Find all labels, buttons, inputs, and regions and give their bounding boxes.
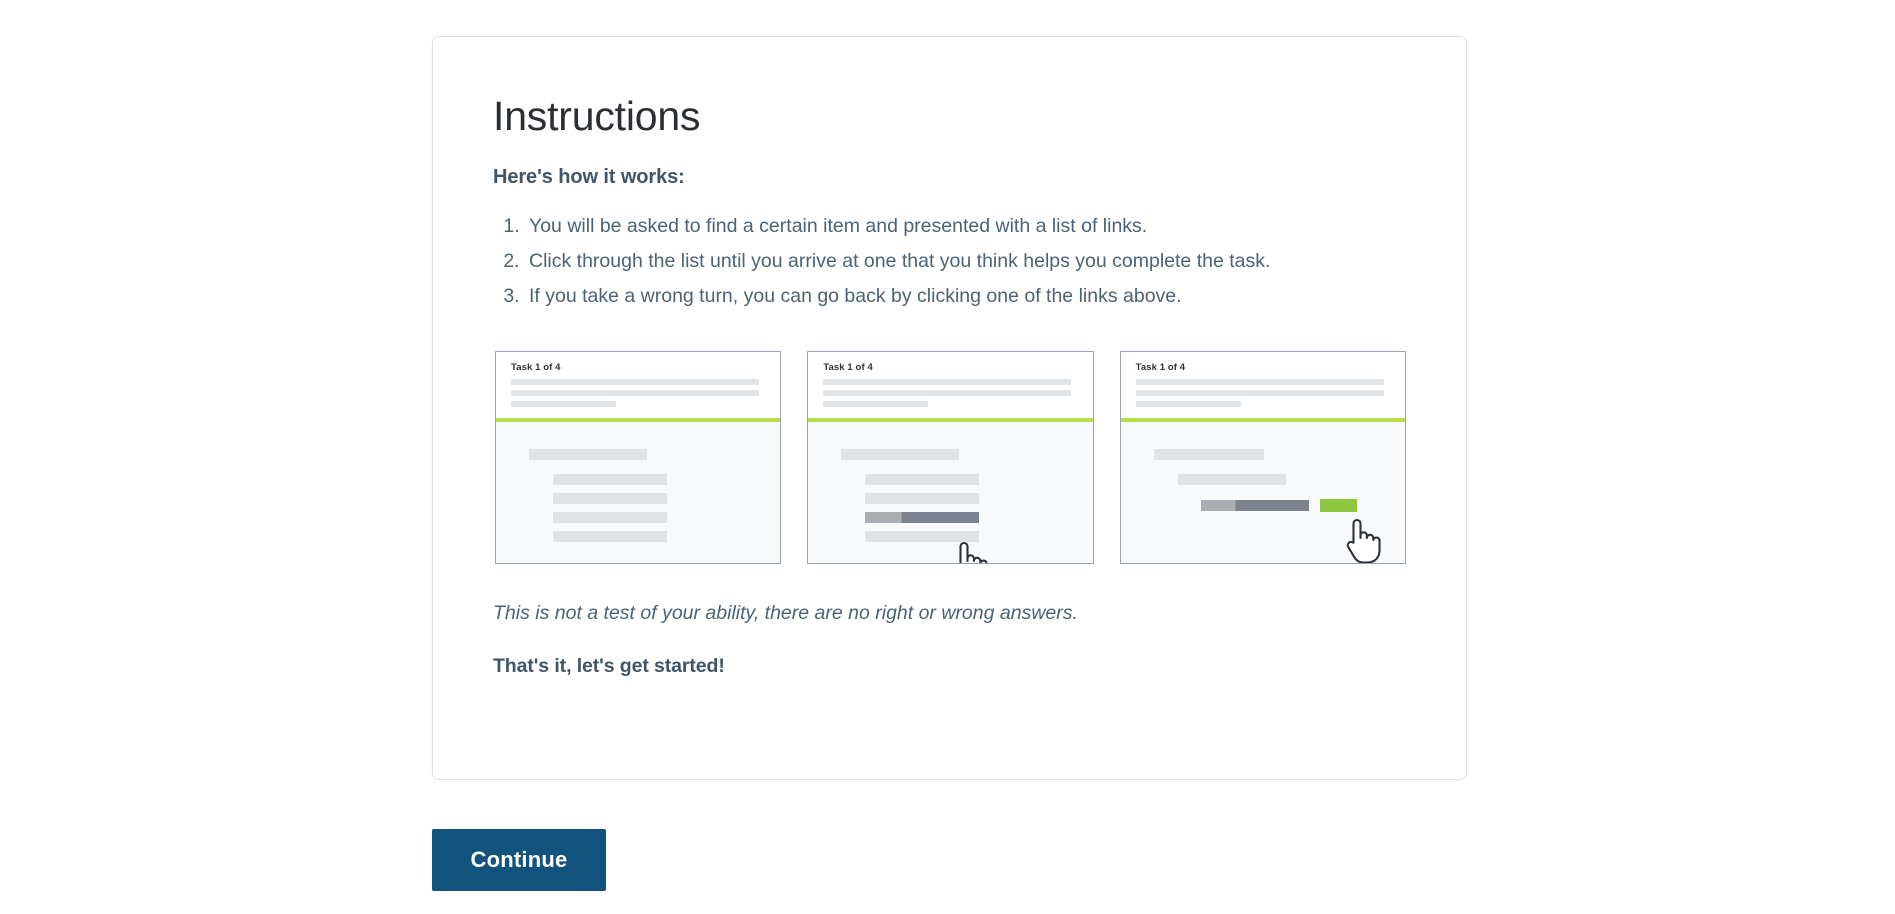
pointing-hand-cursor-icon [1340, 516, 1382, 564]
placeholder-result-line [1121, 499, 1405, 512]
thumbnail-3-header: Task 1 of 4 [1121, 352, 1405, 418]
thumbnail-2-task-label: Task 1 of 4 [823, 362, 1080, 373]
thumbnail-step-3: Task 1 of 4 [1120, 351, 1406, 564]
continue-button[interactable]: Continue [432, 829, 606, 891]
step-item-3: If you take a wrong turn, you can go bac… [525, 279, 1405, 314]
thumbnail-2-body [808, 422, 1092, 563]
instructions-panel: Instructions Here's how it works: You wi… [432, 36, 1467, 780]
step-item-2: Click through the list until you arrive … [525, 244, 1405, 279]
disclaimer-text: This is not a test of your ability, ther… [493, 602, 1406, 625]
steps-list: You will be asked to find a certain item… [493, 209, 1406, 314]
placeholder-line [1136, 401, 1241, 407]
placeholder-line [511, 401, 616, 407]
thumbnail-1-header: Task 1 of 4 [496, 352, 780, 418]
placeholder-link-row-selected [1201, 500, 1309, 511]
thumbnail-step-1: Task 1 of 4 [495, 351, 781, 564]
thumbnail-1-task-label: Task 1 of 4 [511, 362, 768, 373]
thumbnail-step-2: Task 1 of 4 [807, 351, 1093, 564]
step-item-1: You will be asked to find a certain item… [525, 209, 1405, 244]
placeholder-breadcrumb-row [1178, 474, 1286, 485]
thumbnail-3-task-label: Task 1 of 4 [1136, 362, 1393, 373]
placeholder-line [823, 401, 928, 407]
placeholder-line [823, 390, 1071, 396]
placeholder-heading-row [1154, 449, 1264, 460]
placeholder-line [1136, 379, 1384, 385]
panel-content: Instructions Here's how it works: You wi… [433, 37, 1466, 678]
placeholder-link-row [865, 493, 979, 504]
placeholder-link-row [553, 474, 667, 485]
page-title: Instructions [493, 93, 1406, 140]
placeholder-select-button [1320, 499, 1357, 512]
thumbnail-3-body [1121, 422, 1405, 563]
placeholder-heading-row [529, 449, 647, 460]
closing-text: That's it, let's get started! [493, 655, 1406, 678]
thumbnail-2-header: Task 1 of 4 [808, 352, 1092, 418]
placeholder-link-row [553, 512, 667, 523]
placeholder-link-row [865, 474, 979, 485]
placeholder-heading-row [841, 449, 959, 460]
placeholder-line [511, 390, 759, 396]
example-thumbnails: Task 1 of 4 [493, 351, 1406, 564]
placeholder-link-row [553, 531, 667, 542]
placeholder-link-row [553, 493, 667, 504]
placeholder-line [1136, 390, 1384, 396]
pointing-hand-cursor-icon [947, 539, 989, 564]
instructions-page: Instructions Here's how it works: You wi… [0, 0, 1895, 914]
placeholder-link-row [865, 531, 979, 542]
placeholder-line [511, 379, 759, 385]
placeholder-link-row-selected [865, 512, 979, 523]
placeholder-line [823, 379, 1071, 385]
lead-text: Here's how it works: [493, 166, 1406, 189]
thumbnail-1-body [496, 422, 780, 563]
